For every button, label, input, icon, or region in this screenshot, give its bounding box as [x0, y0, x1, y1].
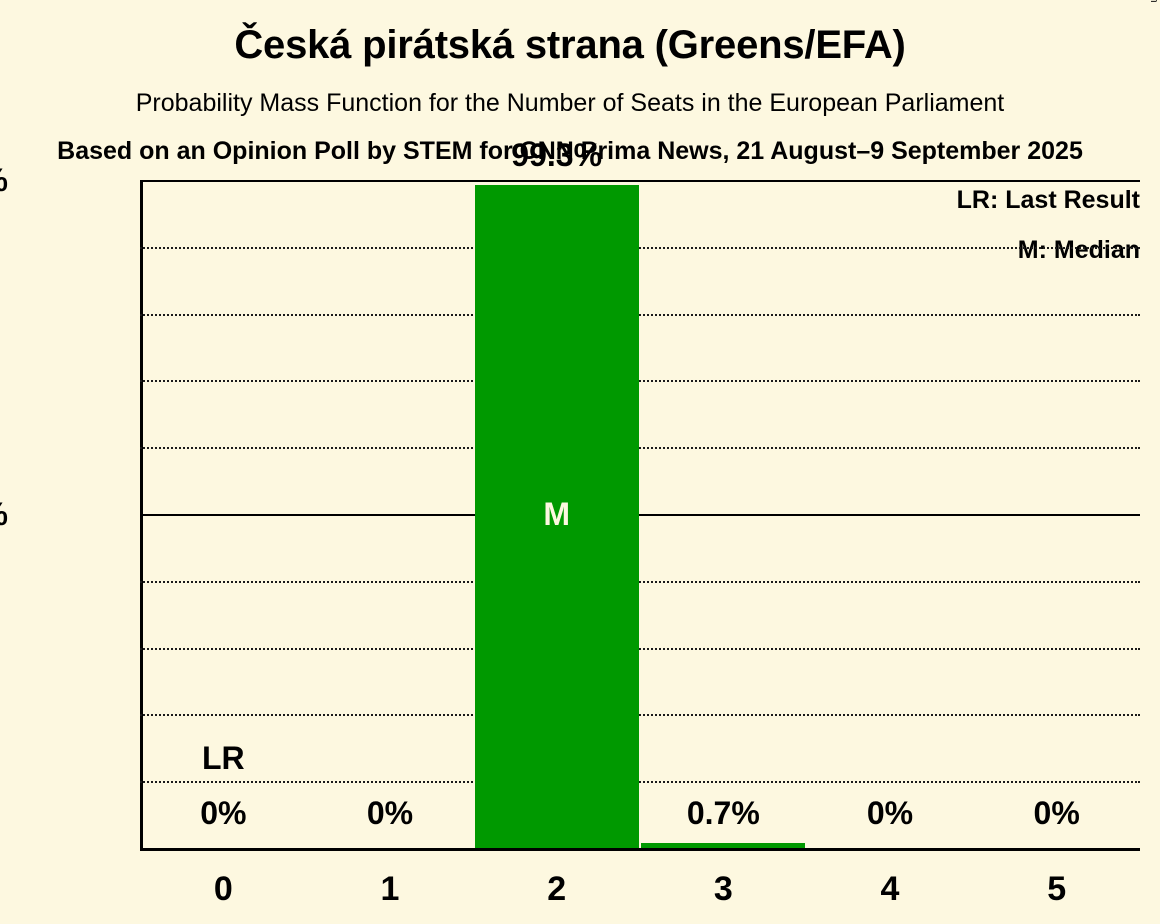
gridline-major [140, 514, 1140, 516]
gridline-major [140, 180, 1140, 182]
gridline-minor [140, 781, 1140, 783]
bar-value-label: 0% [367, 797, 413, 829]
bar-value-label: 0% [200, 797, 246, 829]
last-result-marker: LR [202, 742, 245, 774]
plot-area: MLR [140, 180, 1140, 848]
chart-subtitle: Probability Mass Function for the Number… [0, 65, 1140, 116]
bar-value-label: 99.3% [511, 139, 602, 171]
bar[interactable] [641, 843, 805, 848]
gridline-minor [140, 447, 1140, 449]
gridline-minor [140, 581, 1140, 583]
x-axis-tick-label: 0 [214, 872, 233, 906]
bar-value-label: 0% [1034, 797, 1080, 829]
x-axis-tick-label: 2 [547, 872, 566, 906]
page-title: Česká pirátská strana (Greens/EFA) [0, 0, 1140, 65]
gridline-minor [140, 648, 1140, 650]
bar-value-label: 0.7% [687, 797, 760, 829]
chart-root: Česká pirátská strana (Greens/EFA) Proba… [0, 0, 1160, 924]
x-axis-line [140, 848, 1140, 851]
x-axis-tick-label: 1 [381, 872, 400, 906]
gridline-minor [140, 314, 1140, 316]
y-axis-tick-label: 50% [0, 498, 8, 530]
x-axis-tick-label: 4 [881, 872, 900, 906]
median-marker: M [543, 498, 570, 530]
gridline-minor [140, 247, 1140, 249]
x-axis-tick-label: 3 [714, 872, 733, 906]
gridline-minor [140, 714, 1140, 716]
x-axis-tick-label: 5 [1047, 872, 1066, 906]
y-axis-tick-label: 100% [0, 164, 8, 196]
gridline-minor [140, 380, 1140, 382]
bar-value-label: 0% [867, 797, 913, 829]
